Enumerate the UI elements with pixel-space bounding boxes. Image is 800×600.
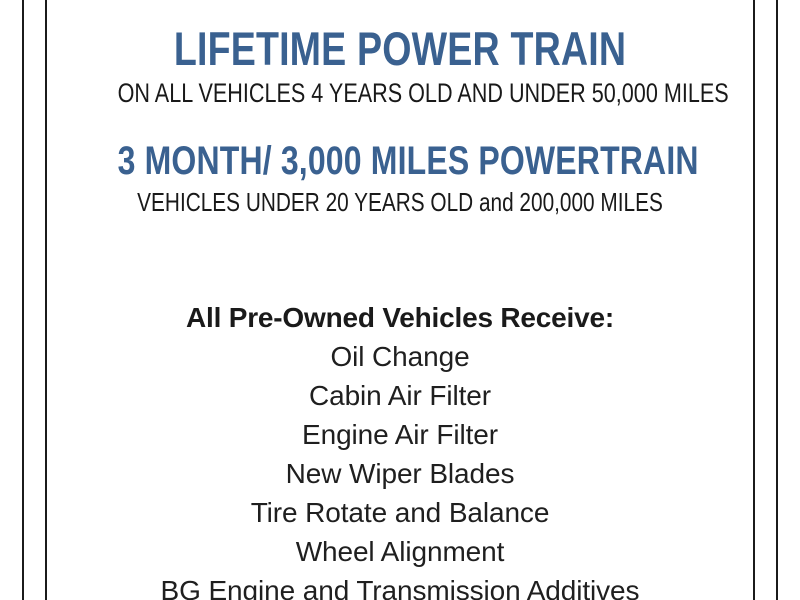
frame-rule-left-outer	[22, 0, 24, 600]
included-services-title: All Pre-Owned Vehicles Receive:	[47, 298, 753, 337]
lifetime-powertrain-headline: LIFETIME POWER TRAIN	[118, 25, 683, 72]
service-item: Tire Rotate and Balance	[47, 493, 753, 532]
included-services-section: All Pre-Owned Vehicles Receive: Oil Chan…	[47, 298, 753, 600]
flyer-content: LIFETIME POWER TRAIN ON ALL VEHICLES 4 Y…	[47, 0, 753, 600]
service-item: Cabin Air Filter	[47, 376, 753, 415]
frame-rule-right-outer	[776, 0, 778, 600]
service-item: Wheel Alignment	[47, 532, 753, 571]
three-month-powertrain-subhead: VEHICLES UNDER 20 YEARS OLD and 200,000 …	[118, 189, 683, 215]
warranty-flyer: LIFETIME POWER TRAIN ON ALL VEHICLES 4 Y…	[0, 0, 800, 600]
frame-rule-right-inner	[753, 0, 755, 600]
three-month-powertrain-headline: 3 MONTH/ 3,000 MILES POWERTRAIN	[118, 141, 683, 181]
service-item: Engine Air Filter	[47, 415, 753, 454]
service-item: New Wiper Blades	[47, 454, 753, 493]
service-item: BG Engine and Transmission Additives	[47, 571, 753, 600]
lifetime-powertrain-subhead: ON ALL VEHICLES 4 YEARS OLD AND UNDER 50…	[118, 80, 683, 107]
service-item: Oil Change	[47, 337, 753, 376]
